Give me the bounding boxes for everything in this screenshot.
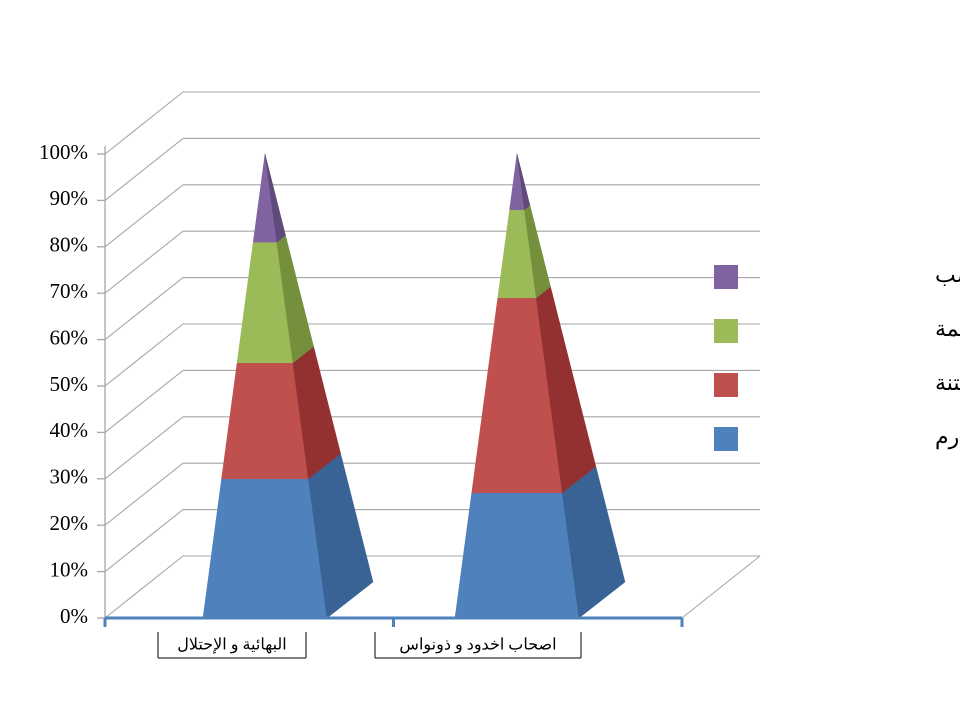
y-axis-tick-label: 40% bbox=[50, 418, 89, 442]
gridline-depth-connector bbox=[105, 510, 183, 572]
y-axis-tick-label: 60% bbox=[50, 325, 89, 349]
x-axis-category-label: البهائية و الإحتلال bbox=[177, 637, 286, 654]
floor-right-edge bbox=[682, 556, 760, 618]
legend-item-label: آثار الغصب bbox=[935, 261, 960, 288]
axis-group bbox=[97, 146, 760, 618]
cone-segment-front-face bbox=[455, 493, 579, 618]
cone-segment-front-face bbox=[203, 479, 327, 618]
legend-color-swatch bbox=[714, 373, 738, 397]
y-axis-tick-label: 10% bbox=[50, 557, 89, 581]
y-tick-labels-group: 100%90%80%70%60%50%40%30%20%10%0% bbox=[39, 140, 88, 628]
legend-item[interactable]: الفتنة bbox=[714, 370, 960, 397]
cone-segment bbox=[510, 154, 530, 210]
gridline-depth-connector bbox=[105, 324, 183, 386]
legend-color-swatch bbox=[714, 427, 738, 451]
gridline-depth-connector bbox=[105, 185, 183, 247]
gridlines-group bbox=[105, 92, 760, 618]
cone-segment bbox=[237, 235, 314, 362]
y-axis-tick-label: 50% bbox=[50, 372, 89, 396]
chart-container: 100%90%80%70%60%50%40%30%20%10%0% البهائ… bbox=[0, 0, 960, 720]
gridline-depth-connector bbox=[105, 417, 183, 479]
cones-group bbox=[203, 154, 625, 618]
legend-color-swatch bbox=[714, 319, 738, 343]
legend-item-label: الفتنة bbox=[935, 370, 960, 395]
x-axis-category-label: اصحاب اخدود و ذونواس bbox=[399, 637, 556, 654]
y-axis-tick-label: 100% bbox=[39, 140, 88, 164]
cone-segment bbox=[472, 287, 596, 493]
gridline-depth-connector bbox=[105, 370, 183, 432]
legend-item-label: يحلّ الزّواج بالمحارم bbox=[935, 423, 960, 450]
gridline-depth-connector bbox=[105, 138, 183, 200]
cone-segment bbox=[498, 205, 551, 297]
y-axis-tick-label: 20% bbox=[50, 511, 89, 535]
y-axis-tick-label: 0% bbox=[60, 604, 88, 628]
y-axis-tick-label: 80% bbox=[50, 233, 89, 257]
gridline-depth-connector bbox=[105, 92, 183, 154]
y-axis-tick-label: 30% bbox=[50, 465, 89, 489]
gridline-depth-connector bbox=[105, 278, 183, 340]
stacked-cone-chart: 100%90%80%70%60%50%40%30%20%10%0% البهائ… bbox=[0, 0, 960, 720]
legend-color-swatch bbox=[714, 265, 738, 289]
legend-item[interactable]: يحلّ الزّواج بالمحارم bbox=[714, 423, 960, 451]
x-category-labels-group: البهائية و الإحتلالاصحاب اخدود و ذونواس bbox=[158, 632, 581, 658]
y-axis-tick-label: 70% bbox=[50, 279, 89, 303]
cone-segment bbox=[222, 347, 341, 479]
gridline-depth-connector bbox=[105, 231, 183, 293]
legend-group: آثار الغصبمذبحة عظيمةالفتنةيحلّ الزّواج … bbox=[714, 261, 960, 451]
gridline-depth-connector bbox=[105, 556, 183, 618]
legend-item[interactable]: آثار الغصب bbox=[714, 261, 960, 289]
legend-item[interactable]: مذبحة عظيمة bbox=[714, 316, 960, 343]
gridline-depth-connector bbox=[105, 463, 183, 525]
y-axis-tick-label: 90% bbox=[50, 186, 89, 210]
legend-item-label: مذبحة عظيمة bbox=[935, 316, 960, 341]
cone-segment bbox=[253, 154, 285, 242]
base-axis-group bbox=[105, 618, 682, 627]
